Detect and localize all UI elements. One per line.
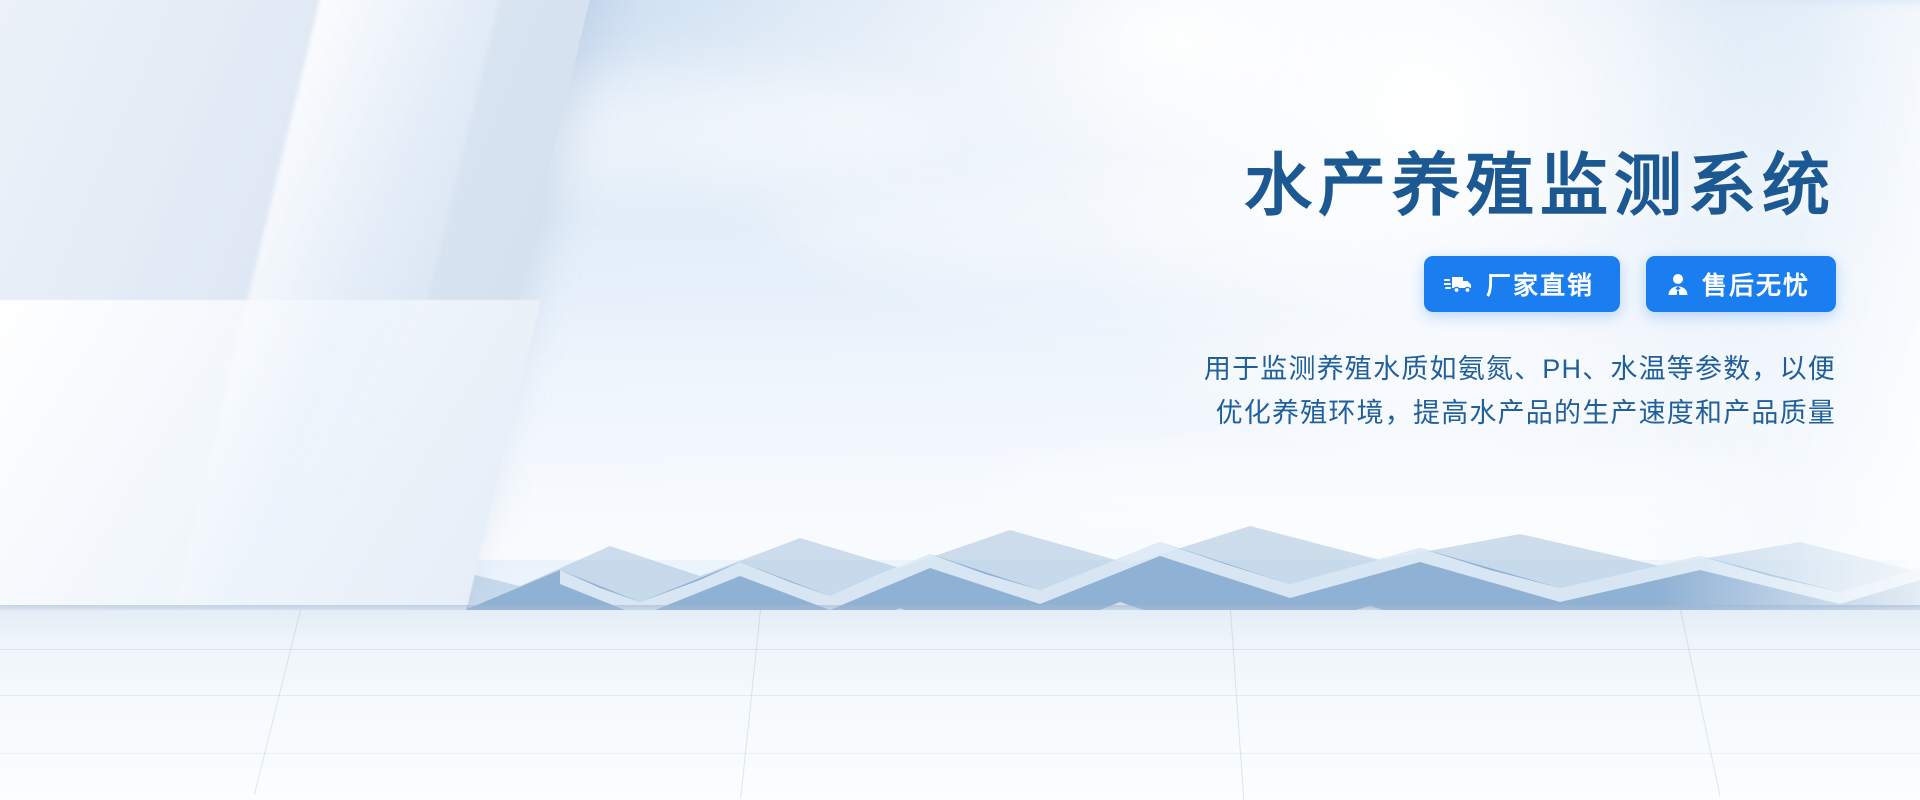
delivery-truck-icon	[1444, 273, 1474, 295]
plaza-floor-grid	[0, 610, 1920, 800]
hero-banner: 水产养殖监测系统 厂家直销	[0, 0, 1920, 800]
badge-after-sales[interactable]: 售后无忧	[1646, 256, 1836, 312]
description-line: 用于监测养殖水质如氨氮、PH、水温等参数，以便	[916, 348, 1836, 392]
badge-label: 售后无忧	[1702, 266, 1810, 302]
hero-content: 水产养殖监测系统 厂家直销	[916, 150, 1836, 436]
page-description: 用于监测养殖水质如氨氮、PH、水温等参数，以便 优化养殖环境，提高水产品的生产速…	[916, 348, 1836, 435]
badge-label: 厂家直销	[1486, 266, 1594, 302]
badge-factory-direct[interactable]: 厂家直销	[1424, 256, 1620, 312]
page-title: 水产养殖监测系统	[916, 150, 1836, 222]
description-line: 优化养殖环境，提高水产品的生产速度和产品质量	[916, 392, 1836, 436]
customer-service-person-icon	[1666, 273, 1690, 296]
badge-list: 厂家直销 售后无忧	[916, 256, 1836, 312]
